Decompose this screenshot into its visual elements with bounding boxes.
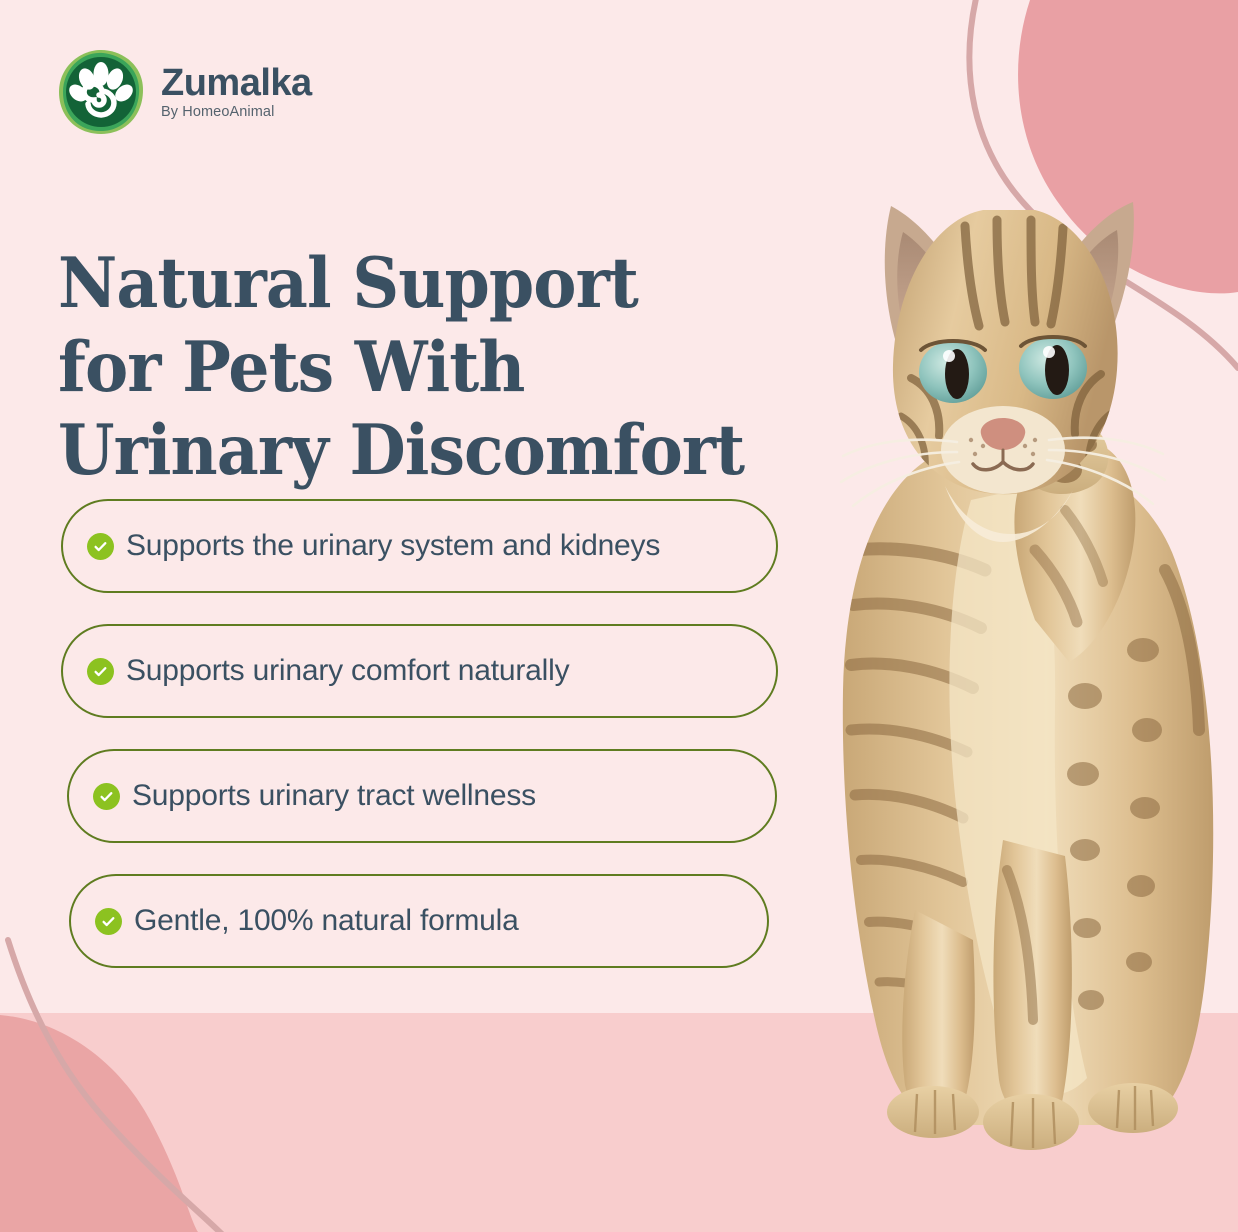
brand-header: Zumalka By HomeoAnimal — [57, 48, 312, 136]
benefit-label: Supports urinary comfort naturally — [126, 654, 569, 688]
leaf-paw-logo-icon — [57, 48, 145, 136]
cat-raised-paw — [1014, 417, 1135, 662]
cat-nose — [981, 418, 1026, 450]
check-circle-icon — [87, 533, 114, 560]
cat-legs — [887, 840, 1178, 1150]
decorative-curve-top — [969, 0, 1238, 368]
benefit-item-4: Gentle, 100% natural formula — [69, 874, 769, 968]
cat-ear-left — [885, 206, 973, 346]
headline-line-1: Natural Support — [58, 242, 772, 325]
benefit-label: Supports the urinary system and kidneys — [126, 529, 660, 563]
cat-ear-right — [1043, 202, 1134, 342]
cat-body — [843, 446, 1213, 1125]
promo-poster: Zumalka By HomeoAnimal Natural Support f… — [0, 0, 1238, 1232]
bottom-band — [0, 1013, 1238, 1232]
check-circle-icon — [95, 908, 122, 935]
cat-photo — [735, 150, 1238, 1160]
benefit-item-3: Supports urinary tract wellness — [67, 749, 777, 843]
headline-line-2: for Pets With — [58, 326, 772, 409]
bottom-left-blob — [0, 1015, 198, 1232]
cat-paw-middle — [983, 1094, 1079, 1150]
page-title: Natural Support for Pets With Urinary Di… — [58, 242, 772, 492]
benefit-label: Supports urinary tract wellness — [132, 779, 536, 813]
benefit-label: Gentle, 100% natural formula — [134, 904, 519, 938]
check-circle-icon — [93, 783, 120, 810]
brand-tagline: By HomeoAnimal — [161, 105, 312, 120]
benefit-item-2: Supports urinary comfort naturally — [61, 624, 778, 718]
brand-wordmark: Zumalka By HomeoAnimal — [161, 64, 312, 120]
check-circle-icon — [87, 658, 114, 685]
top-right-blob — [1018, 0, 1238, 293]
cat-head — [841, 202, 1165, 542]
benefits-list: Supports the urinary system and kidneys … — [61, 499, 778, 999]
benefit-item-1: Supports the urinary system and kidneys — [61, 499, 778, 593]
brand-name: Zumalka — [161, 64, 312, 102]
cat-eyes — [919, 337, 1087, 403]
cat-paw-left — [887, 1086, 979, 1138]
cat-paw-right — [1088, 1083, 1178, 1133]
headline-line-3: Urinary Discomfort — [58, 409, 772, 492]
